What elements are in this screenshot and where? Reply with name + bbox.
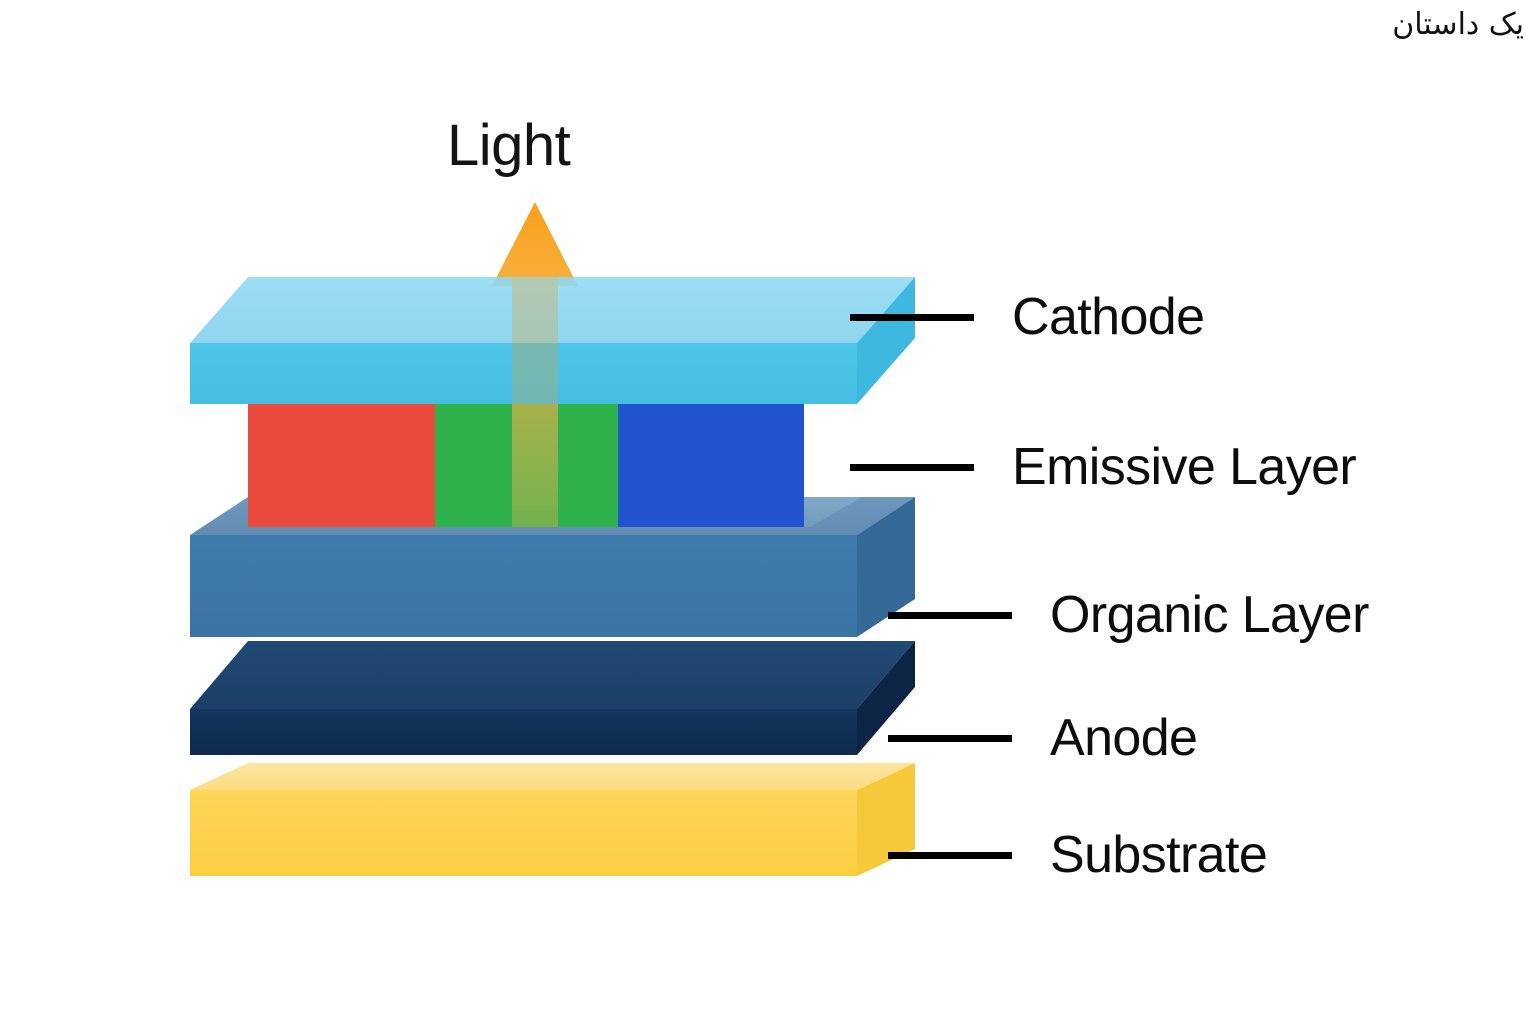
callout-label-anode: Anode	[1050, 712, 1197, 764]
substrate-top-face	[190, 763, 915, 790]
callout-label-substrate: Substrate	[1050, 829, 1267, 881]
callout-line-organic	[888, 612, 1012, 619]
callout-substrate: Substrate	[888, 829, 1267, 881]
layer-substrate	[190, 763, 915, 876]
callout-line-cathode	[850, 314, 974, 321]
anode-front-face	[190, 709, 857, 755]
arrow-glow-overlay	[512, 277, 558, 527]
callout-anode: Anode	[888, 712, 1197, 764]
callout-organic: Organic Layer	[888, 589, 1369, 641]
diagram-canvas: یک داستان Light	[0, 0, 1536, 1024]
blue-subpixel	[618, 404, 804, 527]
substrate-front-face	[190, 790, 857, 876]
anode-top-face	[190, 641, 915, 709]
red-subpixel	[248, 404, 435, 527]
layer-anode	[190, 641, 915, 755]
oled-stack-illustration	[0, 0, 1536, 1024]
callout-emissive: Emissive Layer	[850, 441, 1356, 493]
callout-line-substrate	[888, 852, 1012, 859]
callout-label-cathode: Cathode	[1012, 291, 1204, 343]
callout-label-emissive: Emissive Layer	[1012, 441, 1356, 493]
arrow-head	[492, 202, 578, 286]
callout-cathode: Cathode	[850, 291, 1204, 343]
callout-line-emissive	[850, 464, 974, 471]
callout-label-organic: Organic Layer	[1050, 589, 1369, 641]
organic-front-face	[190, 535, 857, 637]
callout-line-anode	[888, 735, 1012, 742]
